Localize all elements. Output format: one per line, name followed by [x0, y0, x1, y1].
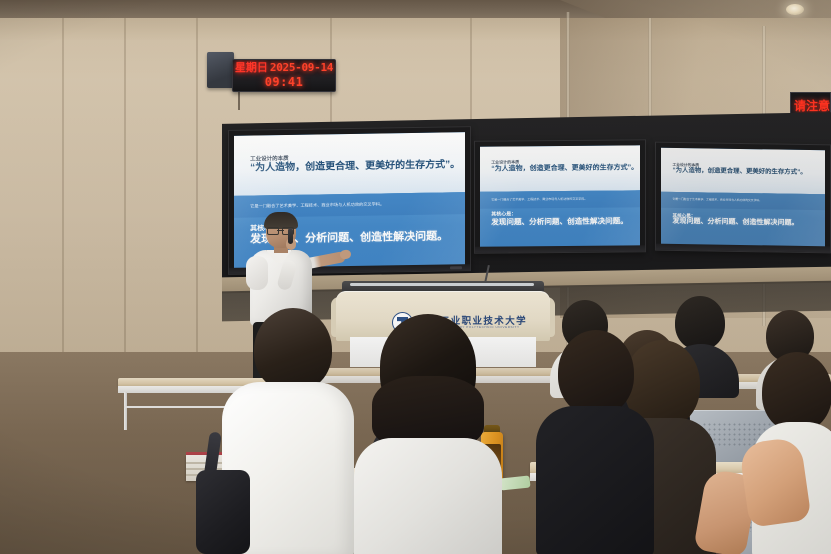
student-body	[354, 438, 502, 554]
display-chin	[475, 245, 645, 252]
slide-top-section: 工业设计的本质 “为人造物，创造更合理、更美好的生存方式”。	[234, 132, 465, 195]
desk-leg	[124, 392, 127, 430]
slide-headline: “为人造物，创造更合理、更美好的生存方式”。	[250, 159, 451, 174]
presenter-left-sleeve	[246, 256, 268, 290]
slide-bottom-section: 它是一门融合了艺术美学、工程技术、商业市场与人机功效的交叉学科。 其核心是： 发…	[480, 191, 640, 248]
student-body	[536, 406, 654, 554]
led-clock-display: 星期日 2025-09-14 09:41	[232, 59, 336, 92]
wall-seam	[196, 18, 198, 358]
slide-top-section: 工业设计的本质 “为人造物，创造更合理、更美好的生存方式”。	[661, 148, 825, 194]
presentation-slide: 工业设计的本质 “为人造物，创造更合理、更美好的生存方式”。 它是一门融合了艺术…	[661, 148, 825, 248]
slide-core-text: 发现问题、分析问题、创造性解决问题。	[672, 218, 816, 228]
led-weekday: 星期日	[235, 63, 268, 74]
clock-mount-bracket	[207, 52, 234, 88]
wall-seam	[62, 18, 64, 358]
right-side-display[interactable]: 工业设计的本质 “为人造物，创造更合理、更美好的生存方式”。 它是一门融合了艺术…	[655, 142, 831, 254]
left-side-display-panel: 工业设计的本质 “为人造物，创造更合理、更美好的生存方式”。 它是一门融合了艺术…	[480, 145, 640, 247]
student-head	[762, 352, 831, 432]
student-front-2	[352, 314, 502, 554]
lecture-hall-photo: 星期日 2025-09-14 09:41 请注意 工业设计的本质 “为人造物，创…	[0, 0, 831, 554]
wall-seam	[470, 18, 472, 122]
left-side-display[interactable]: 工业设计的本质 “为人造物，创造更合理、更美好的生存方式”。 它是一门融合了艺术…	[474, 139, 646, 254]
led-date: 2025-09-14	[270, 62, 333, 73]
ceiling-light	[786, 4, 804, 15]
led-sign-right-text: 请注意	[794, 97, 830, 114]
right-side-display-panel: 工业设计的本质 “为人造物，创造更合理、更美好的生存方式”。 它是一门融合了艺术…	[661, 148, 825, 248]
slide-core-text: 发现问题、分析问题、创造性解决问题。	[491, 217, 632, 227]
display-brand-logo	[450, 266, 462, 269]
slide-bottom-section: 它是一门融合了艺术美学、工程技术、商业市场与人机功效的交叉学科。 其核心是： 发…	[661, 191, 825, 247]
slide-headline: “为人造物，创造更合理、更美好的生存方式”。	[491, 164, 630, 173]
student-head	[558, 330, 634, 416]
student-head	[254, 308, 332, 392]
presentation-slide: 工业设计的本质 “为人造物，创造更合理、更美好的生存方式”。 它是一门融合了艺术…	[480, 145, 640, 247]
handheld-microphone	[288, 228, 293, 244]
slide-headline: “为人造物，创造更合理、更美好的生存方式”。	[672, 167, 815, 177]
student-front-3	[536, 330, 654, 554]
wall-seam	[124, 18, 126, 358]
led-time: 09:41	[265, 75, 304, 89]
podium-top-highlight	[350, 283, 534, 286]
backpack	[196, 470, 250, 554]
slide-top-section: 工业设计的本质 “为人造物，创造更合理、更美好的生存方式”。	[480, 145, 640, 192]
